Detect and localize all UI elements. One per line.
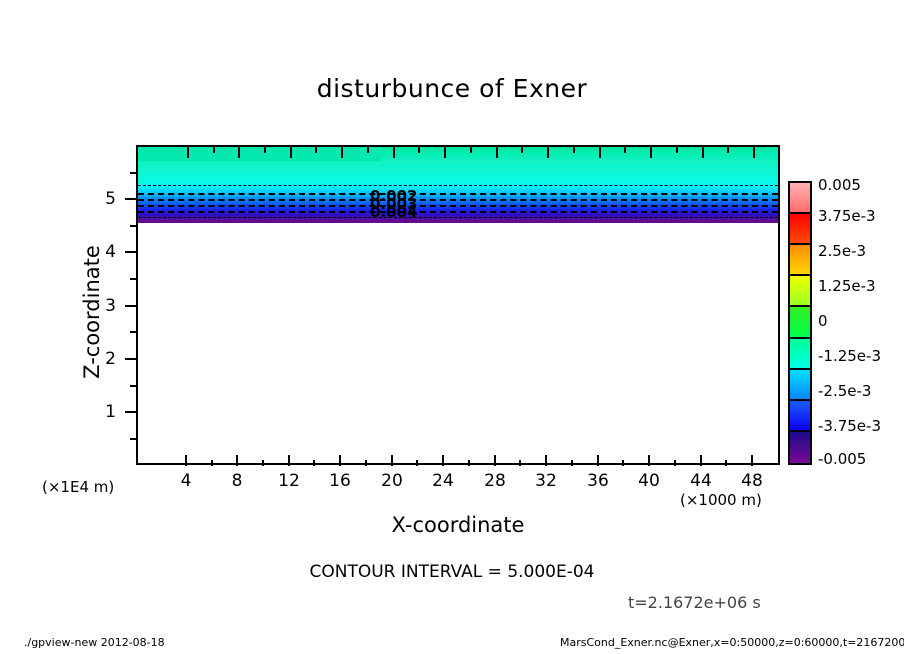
y-axis-unit-label: (×1E4 m): [42, 478, 114, 496]
tick-x: [519, 460, 521, 466]
tick-x: [725, 460, 727, 466]
x-tick-label: 36: [587, 471, 609, 491]
colorbar-band: [790, 370, 810, 401]
tick-x: [597, 455, 599, 466]
tick-top: [727, 147, 729, 153]
tick-x: [622, 460, 624, 466]
tick-top: [187, 147, 189, 158]
tick-top: [702, 147, 704, 158]
contour-line: [138, 185, 778, 186]
x-tick-label: 16: [329, 471, 351, 491]
x-tick-label: 20: [381, 471, 403, 491]
colorbar-tick-label: 0.005: [818, 176, 861, 194]
colorbar-band: [790, 307, 810, 338]
page-title: disturbunce of Exner: [0, 74, 904, 103]
tick-x: [313, 460, 315, 466]
time-annotation: t=2.1672e+06 s: [628, 593, 761, 612]
x-tick-label: 4: [181, 471, 192, 491]
tick-x: [468, 460, 470, 466]
colorbar: [788, 181, 812, 465]
colorbar-tick-label: 3.75e-3: [818, 207, 876, 225]
contour-line: [138, 205, 778, 207]
colorbar-band: [790, 339, 810, 370]
tick-y: [130, 385, 136, 387]
tick-x: [648, 455, 650, 466]
tick-top: [393, 147, 395, 158]
tick-y: [130, 172, 136, 174]
x-axis-title: X-coordinate: [136, 513, 780, 537]
y-axis-title: Z-coordinate: [80, 212, 104, 412]
tick-y: [125, 411, 136, 413]
tick-top: [573, 147, 575, 153]
tick-top: [496, 147, 498, 158]
tick-top: [624, 147, 626, 153]
tick-x: [674, 460, 676, 466]
colorbar-band: [790, 183, 810, 214]
tick-x: [571, 460, 573, 466]
x-tick-label: 28: [484, 471, 506, 491]
x-tick-label: 40: [638, 471, 660, 491]
colorbar-tick-label: -2.5e-3: [818, 382, 871, 400]
tick-x: [545, 455, 547, 466]
x-tick-label: 48: [741, 471, 763, 491]
x-axis-unit-label: (×1000 m): [680, 491, 762, 509]
tick-top: [213, 147, 215, 153]
tick-top: [547, 147, 549, 158]
colorbar-band: [790, 245, 810, 276]
tick-top: [290, 147, 292, 158]
tick-x: [339, 455, 341, 466]
x-tick-label: 8: [232, 471, 243, 491]
tick-x: [262, 460, 264, 466]
tick-y: [125, 251, 136, 253]
tick-x: [365, 460, 367, 466]
tick-x: [288, 455, 290, 466]
colorbar-tick-label: -3.75e-3: [818, 417, 881, 435]
colorbar-tick-label: 0: [818, 312, 828, 330]
tick-y: [130, 438, 136, 440]
tick-x: [442, 455, 444, 466]
contour-data-band: 0.002 0.003 0.004: [138, 147, 778, 223]
tick-top: [315, 147, 317, 153]
tick-y: [130, 225, 136, 227]
tick-x: [211, 460, 213, 466]
tick-x: [391, 455, 393, 466]
tick-x: [751, 455, 753, 466]
tick-top: [264, 147, 266, 153]
x-tick-label: 32: [535, 471, 557, 491]
contour-interval-annotation: CONTOUR INTERVAL = 5.000E-04: [0, 562, 904, 582]
tick-top: [418, 147, 420, 153]
tick-top: [650, 147, 652, 158]
tick-top: [444, 147, 446, 158]
tick-x: [494, 455, 496, 466]
tick-y: [125, 358, 136, 360]
tick-top: [599, 147, 601, 158]
tick-top: [367, 147, 369, 153]
tick-top: [470, 147, 472, 153]
colorbar-band: [790, 276, 810, 307]
footer-command-label: ./gpview-new 2012-08-18: [24, 636, 165, 649]
colorbar-tick-label: -0.005: [818, 450, 866, 468]
x-tick-label: 12: [278, 471, 300, 491]
plot-area: 0.002 0.003 0.004: [136, 145, 780, 465]
tick-x: [700, 455, 702, 466]
tick-y: [130, 331, 136, 333]
colorbar-tick-label: -1.25e-3: [818, 347, 881, 365]
tick-top: [753, 147, 755, 158]
colorbar-band: [790, 401, 810, 432]
tick-x: [416, 460, 418, 466]
contour-label: 0.004: [370, 203, 417, 221]
colorbar-band: [790, 214, 810, 245]
tick-top: [238, 147, 240, 158]
tick-top: [676, 147, 678, 153]
tick-y: [125, 305, 136, 307]
tick-y: [125, 198, 136, 200]
y-tick-label: 5: [92, 189, 116, 209]
tick-top: [341, 147, 343, 158]
tick-x: [236, 455, 238, 466]
colorbar-tick-label: 2.5e-3: [818, 242, 866, 260]
x-tick-label: 44: [690, 471, 712, 491]
contour-line: [138, 193, 778, 195]
tick-top: [521, 147, 523, 153]
colorbar-band: [790, 432, 810, 463]
contour-line: [138, 199, 778, 201]
tick-x: [185, 455, 187, 466]
footer-dataset-label: MarsCond_Exner.nc@Exner,x=0:50000,z=0:60…: [560, 636, 904, 649]
contour-fill-patch: [138, 147, 381, 161]
colorbar-tick-label: 1.25e-3: [818, 277, 876, 295]
contour-line: [138, 211, 778, 213]
contour-line: [138, 217, 778, 218]
tick-y: [130, 278, 136, 280]
x-tick-label: 24: [432, 471, 454, 491]
